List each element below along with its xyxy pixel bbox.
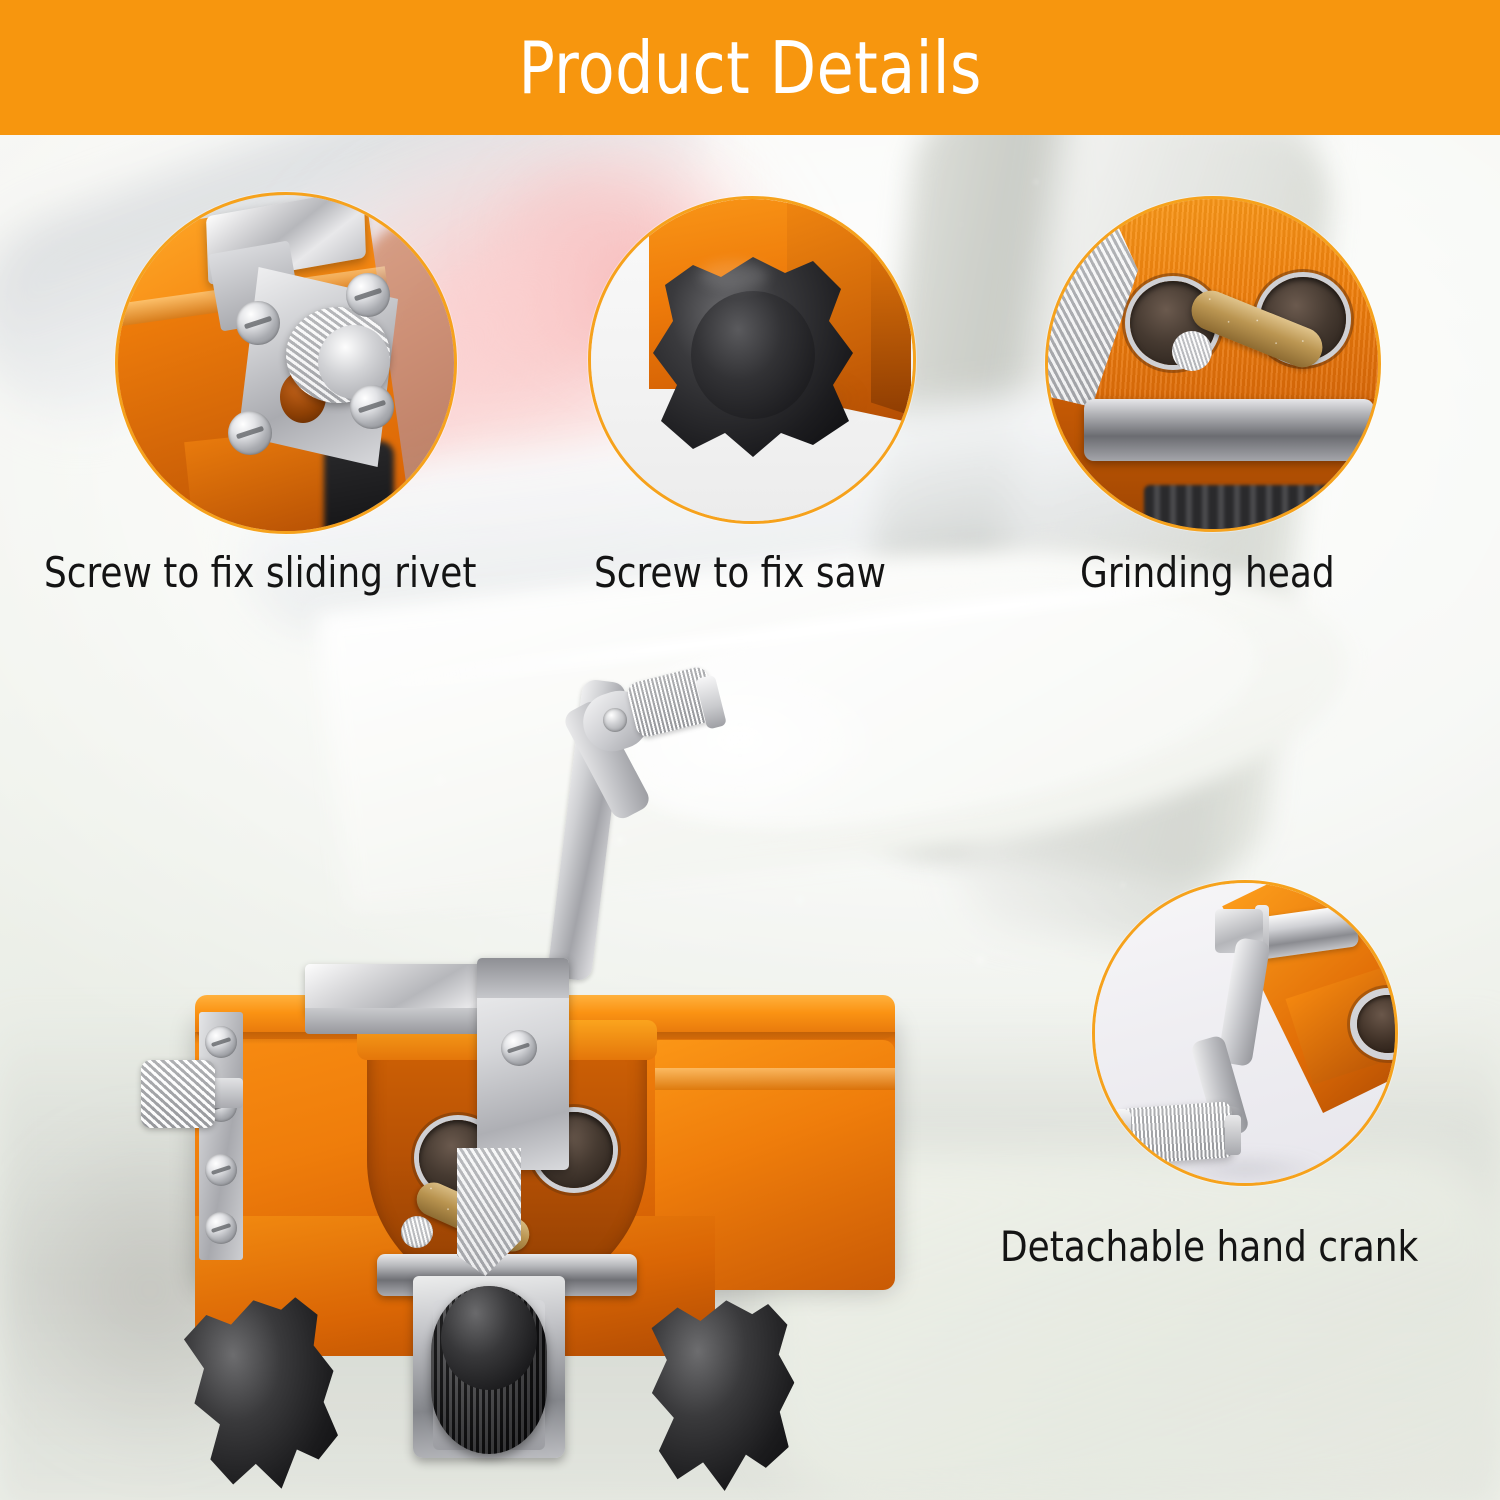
c1-screw-4 [350,385,394,429]
star-knob-right [635,1294,801,1496]
star-knob-left [179,1295,342,1495]
callout-4-circle [1092,880,1398,1186]
callout-4-caption: Detachable hand crank [1000,1226,1418,1268]
c4-handle-end [1225,1115,1241,1155]
callout-1-caption: Screw to fix sliding rivet [44,552,476,594]
star-knob-right-lobes [635,1294,801,1496]
callout-3-photo [1048,199,1378,529]
c4-handle-cap [1113,1109,1131,1157]
c3-chain-rest-plate [1084,399,1374,461]
c3-chain-links [1144,485,1344,529]
callout-2-circle [588,196,916,524]
sharpener-right-groove [655,1068,895,1090]
center-knob-dome [441,1286,537,1390]
callout-1-photo [118,195,454,531]
main-product-image [95,660,895,1500]
crank-pivot-screw [603,708,627,732]
callout-1-circle [115,192,457,534]
callout-2-caption: Screw to fix saw [594,552,886,594]
left-screw-4 [205,1212,237,1244]
sliding-block-notch [477,958,569,998]
sliding-rivet-screw [501,1030,537,1066]
callout-2-photo [591,199,913,521]
callout-3-circle [1045,196,1381,532]
callout-3-caption: Grinding head [1080,552,1335,594]
callout-4-photo [1095,883,1395,1183]
knurled-thumbscrew [141,1060,215,1128]
left-screw-3 [205,1154,237,1186]
c2-star-knob-face [691,291,815,419]
star-knob-left-lobes [179,1295,342,1495]
c4-knurled-handle [1119,1101,1235,1165]
c1-screw-2 [346,273,390,317]
left-screw-1 [205,1026,237,1058]
product-details-page: Product Details [0,0,1500,1500]
header-banner: Product Details [0,0,1500,135]
c1-screw-1 [236,301,280,345]
c2-knob-highlight [699,261,769,289]
page-title: Product Details [518,32,981,104]
c1-screw-3 [228,411,272,455]
